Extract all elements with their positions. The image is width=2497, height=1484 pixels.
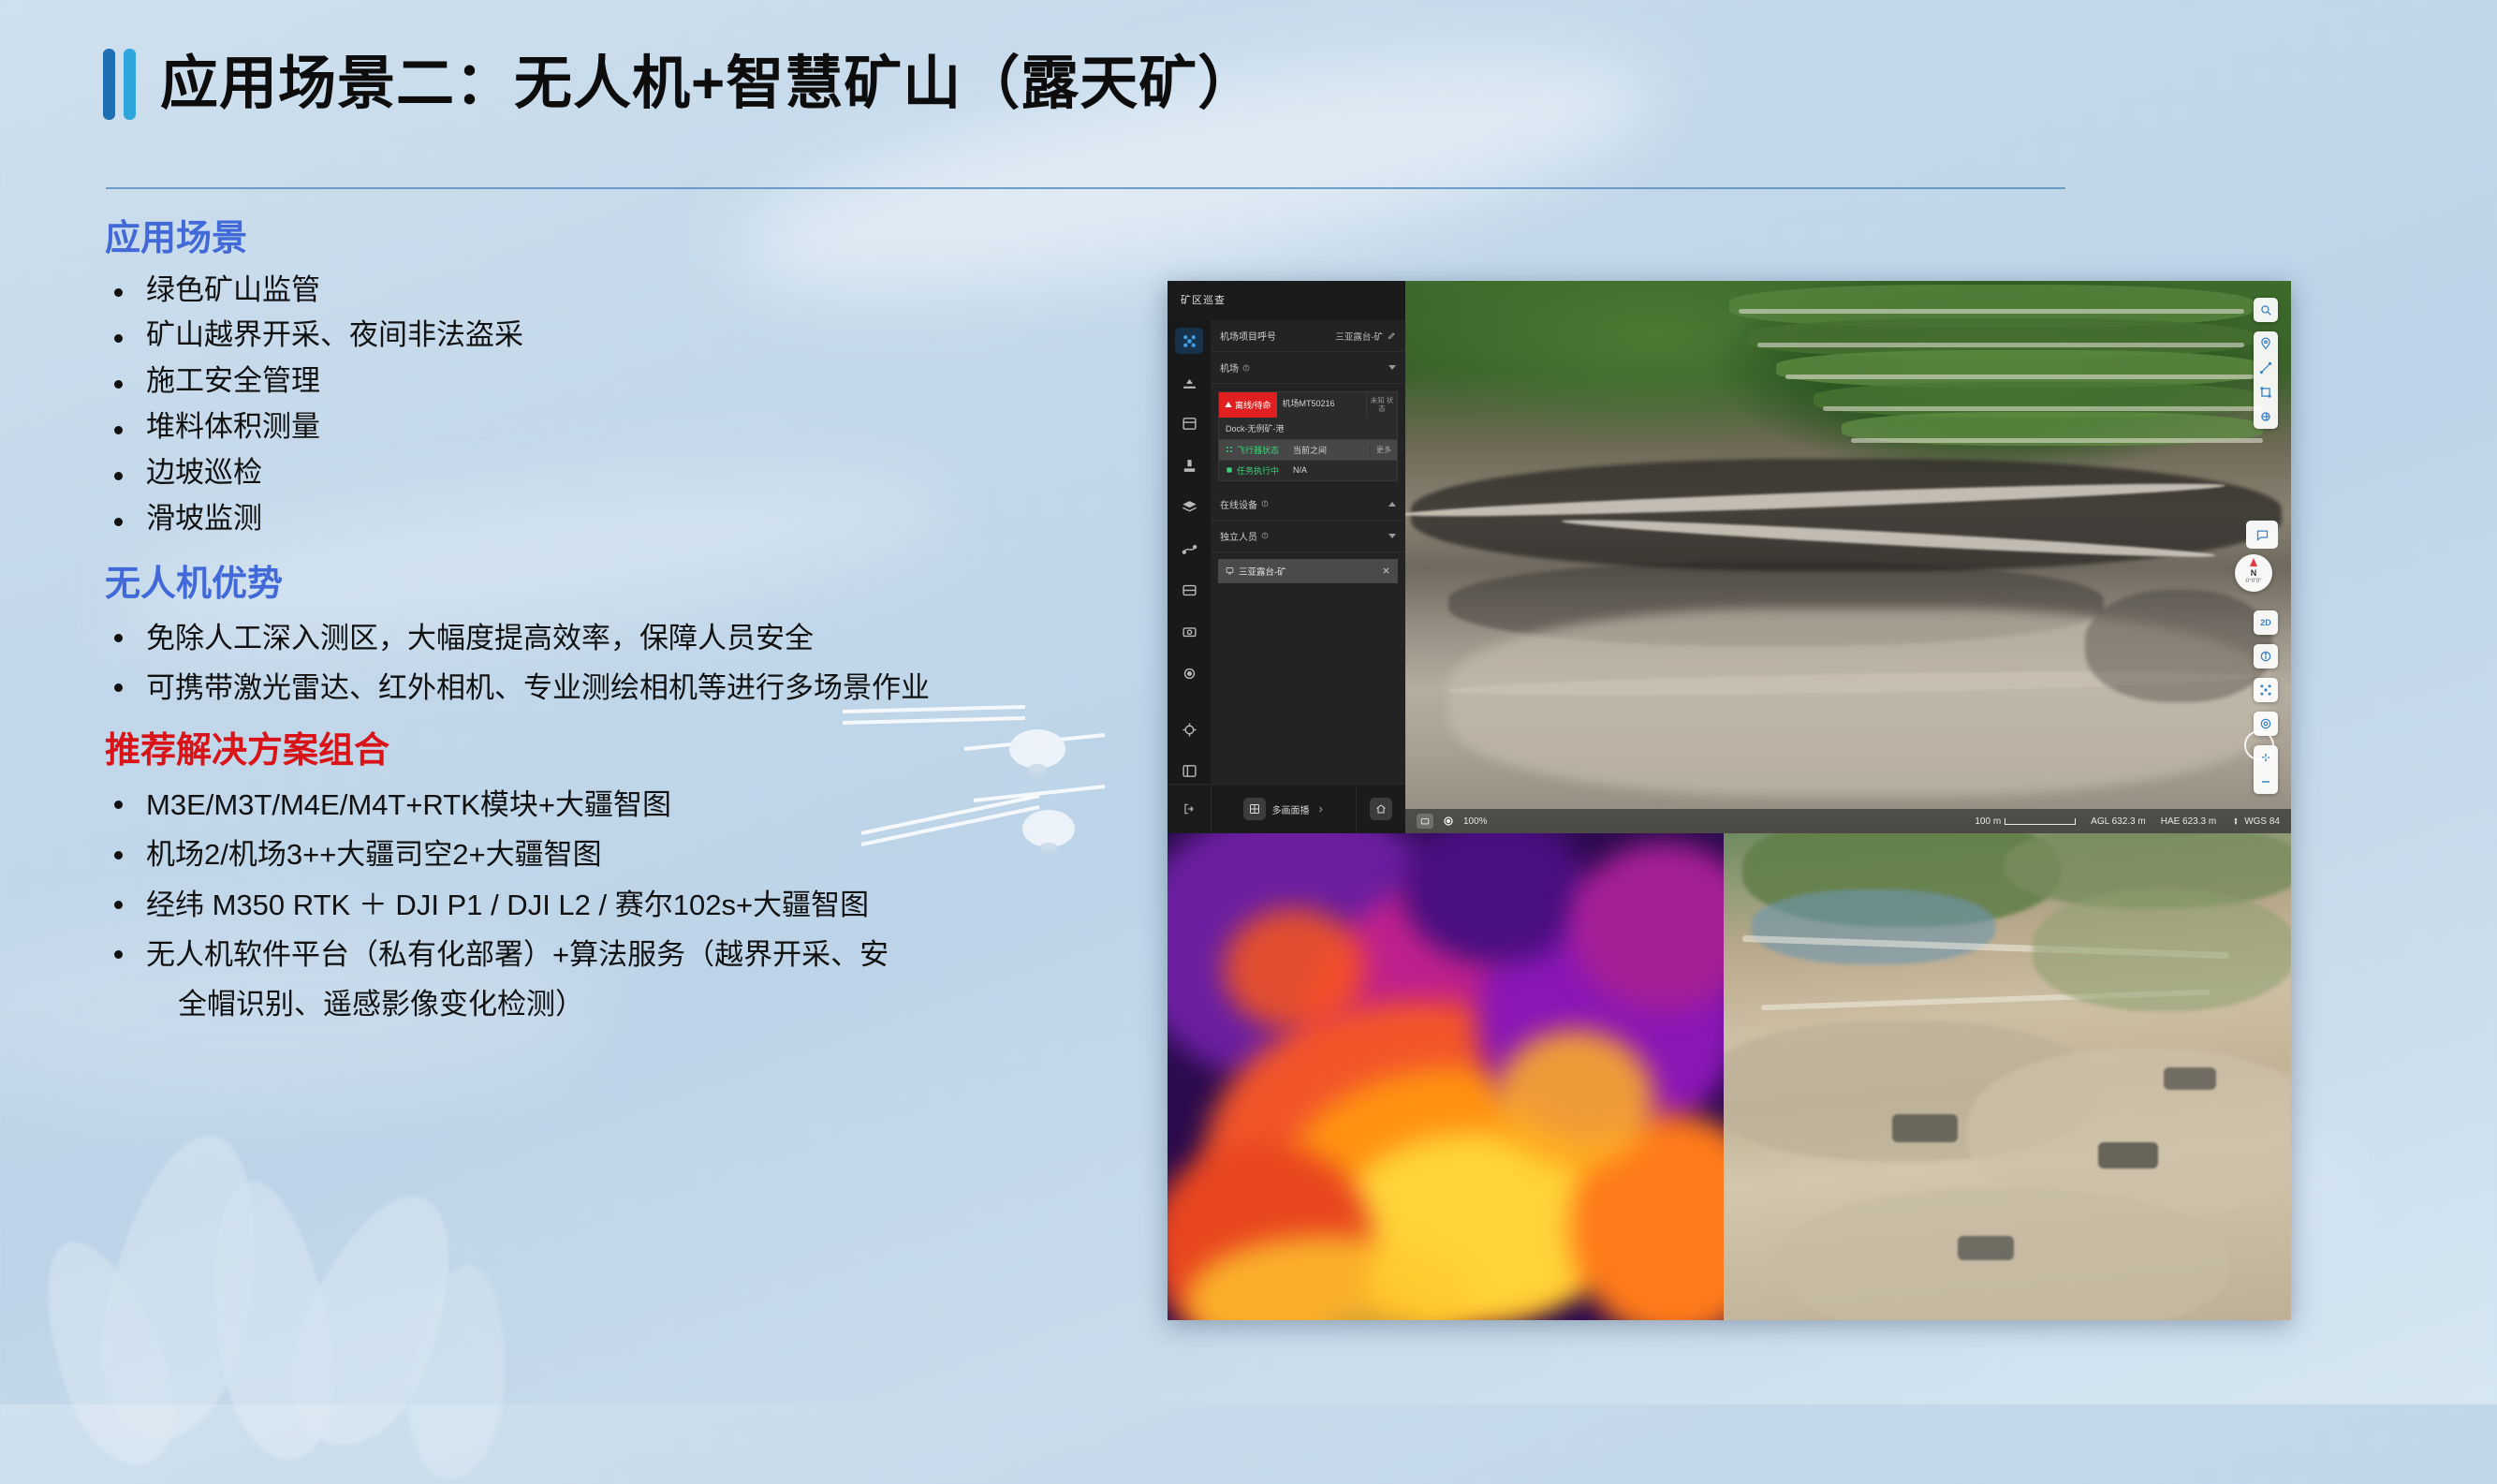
grid-icon (1243, 798, 1266, 820)
device-corner-note: 未知 状态 (1366, 392, 1397, 418)
info-icon (1242, 364, 1250, 372)
footer-multiview-button[interactable]: 多画面播 (1211, 785, 1356, 833)
status-badge: 离线/待命 (1219, 392, 1277, 418)
solution-bullet-list: M3E/M3T/M4E/M4T+RTK模块+大疆智图 机场2/机场3++大疆司空… (105, 780, 1097, 1030)
list-item: 边坡巡检 (105, 450, 1097, 496)
area-measure-icon[interactable] (2254, 380, 2278, 404)
device-card[interactable]: 离线/待命 机场MT50216 未知 状态 Dock-无例矿-港 飞行器状态 当… (1218, 391, 1398, 481)
rail-crosshair-icon[interactable] (1175, 716, 1203, 742)
map-2d3d-group: 2D (2254, 610, 2278, 635)
chevron-up-icon[interactable] (1388, 502, 1396, 507)
record-circle-icon[interactable] (1443, 815, 1454, 827)
ruler-icon[interactable] (2254, 356, 2278, 380)
list-item: 矿山越界开采、夜间非法盗采 (105, 313, 1097, 359)
section-heading-scenarios: 应用场景 (105, 217, 1097, 262)
list-item: 可携带激光雷达、红外相机、专业测绘相机等进行多场景作业 (105, 663, 1097, 713)
airport-group-label: 机场 (1220, 360, 1239, 375)
list-item: 堆料体积测量 (105, 404, 1097, 450)
scenario-bullet-list: 绿色矿山监管 矿山越界开采、夜间非法盗采 施工安全管理 堆料体积测量 边坡巡检 … (105, 268, 1097, 543)
panel-footer: 多画面播 (1168, 784, 1405, 833)
alert-icon (1225, 401, 1232, 408)
2d-3d-toggle-icon[interactable]: 2D (2254, 610, 2278, 635)
footer-multiview-label: 多画面播 (1272, 802, 1310, 816)
task-label: 三亚露台-矿 (1239, 565, 1286, 578)
title-accent-bars (103, 49, 136, 120)
record-icon[interactable] (2244, 730, 2274, 760)
bullet-text: 机场2/机场3++大疆司空2+大疆智图 (146, 838, 602, 871)
bullet-text: M3E/M3T/M4E/M4T+RTK模块+大疆智图 (146, 788, 671, 821)
rail-panel-icon[interactable] (1175, 758, 1203, 785)
title-divider (106, 187, 2065, 189)
chat-icon[interactable] (2246, 521, 2278, 549)
airport-group-header[interactable]: 机场 (1211, 352, 1405, 384)
drone-small-icon (1226, 446, 1233, 453)
list-item: 施工安全管理 (105, 359, 1097, 404)
bullet-text: 矿山越界开采、夜间非法盗采 (146, 318, 523, 351)
device-kv-key: 飞行器状态 (1219, 440, 1289, 460)
list-item: 无人机软件平台（私有化部署）+算法服务（越界开采、安 全帽识别、遥感影像变化检测… (105, 930, 1097, 1030)
slide-title-row: 应用场景二：无人机+智慧矿山（露天矿） (103, 49, 1256, 120)
org-value: 三亚露台-矿 (1335, 330, 1383, 343)
bullet-text: 经纬 M350 RTK ＋ DJI P1 / DJI L2 / 赛尔102s+大… (146, 889, 869, 921)
drone-icon[interactable] (2254, 678, 2278, 702)
bullet-text: 无人机软件平台（私有化部署）+算法服务（越界开采、安 (146, 938, 889, 971)
aerial-map-view: 矿区巡查 (1168, 281, 2291, 833)
close-icon[interactable] (1382, 566, 1390, 575)
logout-icon (1182, 802, 1196, 815)
task-small-icon (1226, 466, 1233, 474)
chevron-right-icon (1316, 805, 1325, 814)
bullet-text: 边坡巡检 (146, 456, 262, 489)
panel-body: 机场项目呼号 三亚露台-矿 机场 (1211, 320, 1405, 785)
online-group-label: 在线设备 (1220, 497, 1257, 511)
dock-label: Dock-无例矿-港 (1219, 418, 1397, 439)
device-kv-value: 当前之间 (1289, 440, 1370, 460)
map-drone-group (2254, 678, 2278, 702)
status-badge-label: 离线/待命 (1235, 399, 1271, 411)
info-icon (1261, 532, 1269, 539)
page-title: 应用场景二：无人机+智慧矿山（露天矿） (160, 55, 1256, 113)
map-toolbar-bottom: 2D (2254, 610, 2278, 794)
footer-logout-button[interactable] (1168, 785, 1211, 833)
rail-camera-icon[interactable] (1175, 619, 1203, 645)
rail-grid-icon[interactable] (1175, 577, 1203, 603)
map-status-bar: 100% 100 m AGL 632.3 m HAE 623.3 m WGS 8… (1405, 809, 2291, 833)
icon-rail (1168, 320, 1211, 785)
device-kv-row: 飞行器状态 当前之间 更多 (1219, 439, 1397, 460)
screenshot-icon[interactable] (1417, 814, 1433, 829)
thermal-image (1168, 833, 1724, 1320)
home-icon (1370, 798, 1392, 820)
device-kv-value: N/A (1289, 462, 1370, 478)
quarry-image (1724, 833, 2291, 1320)
chevron-down-icon[interactable] (1388, 534, 1396, 538)
bullet-text-continuation: 全帽识别、遥感影像变化检测） (146, 979, 1097, 1029)
location-pin-icon[interactable] (2254, 331, 2278, 356)
zoom-level: 100% (1463, 816, 1488, 827)
pencil-icon[interactable] (1388, 331, 1396, 340)
org-label: 机场项目呼号 (1220, 329, 1276, 343)
footer-home-button[interactable] (1356, 785, 1405, 833)
device-name: 机场MT50216 (1277, 392, 1366, 418)
search-icon[interactable] (2254, 298, 2278, 322)
standalone-group-header[interactable]: 独立人员 (1211, 521, 1405, 552)
rail-target-icon[interactable] (1175, 660, 1203, 686)
section-heading-advantages: 无人机优势 (105, 563, 1097, 608)
rail-drone-icon[interactable] (1175, 328, 1203, 354)
info-icon (1261, 500, 1269, 507)
list-item: 机场2/机场3++大疆司空2+大疆智图 (105, 830, 1097, 879)
map-toolbar (2254, 298, 2278, 429)
hae-value: HAE 623.3 m (2161, 816, 2216, 827)
agl-value: AGL 632.3 m (2091, 816, 2146, 827)
leaf-decoration (0, 1011, 1311, 1404)
map-measure-group (2254, 331, 2278, 429)
scale-bar (2005, 818, 2076, 825)
control-panel: 矿区巡查 (1168, 281, 1405, 833)
panel-title: 矿区巡查 (1181, 292, 1226, 307)
device-kv-key: 任务执行中 (1219, 461, 1289, 480)
org-row[interactable]: 机场项目呼号 三亚露台-矿 (1211, 320, 1405, 352)
device-kv-row: 任务执行中 N/A (1219, 460, 1397, 480)
standalone-group-label: 独立人员 (1220, 529, 1257, 543)
list-item: 滑坡监测 (105, 496, 1097, 542)
zoom-out-icon[interactable] (2254, 770, 2278, 794)
list-item: M3E/M3T/M4E/M4T+RTK模块+大疆智图 (105, 780, 1097, 830)
bullet-text: 免除人工深入测区，大幅度提高效率，保障人员安全 (146, 622, 814, 654)
photo-strip (1168, 833, 2291, 1320)
layers-icon[interactable] (2254, 404, 2278, 429)
list-item: 绿色矿山监管 (105, 268, 1097, 314)
compass[interactable]: N 0°0'0" (2235, 554, 2272, 592)
chevron-down-icon[interactable] (1388, 365, 1396, 370)
section-heading-solutions: 推荐解决方案组合 (105, 729, 1097, 774)
scale-label: 100 m (1975, 816, 2001, 827)
bullet-text: 堆料体积测量 (146, 410, 320, 443)
bullet-text: 可携带激光雷达、红外相机、专业测绘相机等进行多场景作业 (146, 671, 930, 704)
compass-degrees: 0°0'0" (2246, 578, 2262, 584)
rail-media-icon[interactable] (1175, 411, 1203, 437)
rail-waypoint-icon[interactable] (1175, 536, 1203, 562)
bullet-text: 绿色矿山监管 (146, 273, 320, 306)
map-info-group (2254, 644, 2278, 669)
list-item: 免除人工深入测区，大幅度提高效率，保障人员安全 (105, 613, 1097, 663)
device-kv-action[interactable]: 更多 (1370, 445, 1397, 455)
compass-label: N (2251, 568, 2257, 578)
online-group-header[interactable]: 在线设备 (1211, 489, 1405, 521)
list-item: 经纬 M350 RTK ＋ DJI P1 / DJI L2 / 赛尔102s+大… (105, 880, 1097, 930)
rail-gimbal-icon[interactable] (1175, 452, 1203, 478)
monitor-icon (1226, 566, 1234, 575)
satellite-icon (2231, 816, 2240, 826)
map-search-group (2254, 298, 2278, 322)
info-icon[interactable] (2254, 644, 2278, 669)
mine-management-screenshot: 矿区巡查 (1168, 281, 2291, 1320)
rail-dock-icon[interactable] (1175, 369, 1203, 395)
task-row[interactable]: 三亚露台-矿 (1218, 559, 1398, 583)
rail-map-layers-icon[interactable] (1175, 493, 1203, 520)
datum-label: WGS 84 (2244, 816, 2280, 827)
advantage-bullet-list: 免除人工深入测区，大幅度提高效率，保障人员安全 可携带激光雷达、红外相机、专业测… (105, 613, 1097, 713)
content-column: 应用场景 绿色矿山监管 矿山越界开采、夜间非法盗采 施工安全管理 堆料体积测量 … (105, 217, 1097, 1030)
bullet-text: 施工安全管理 (146, 364, 320, 397)
bullet-text: 滑坡监测 (146, 502, 262, 535)
